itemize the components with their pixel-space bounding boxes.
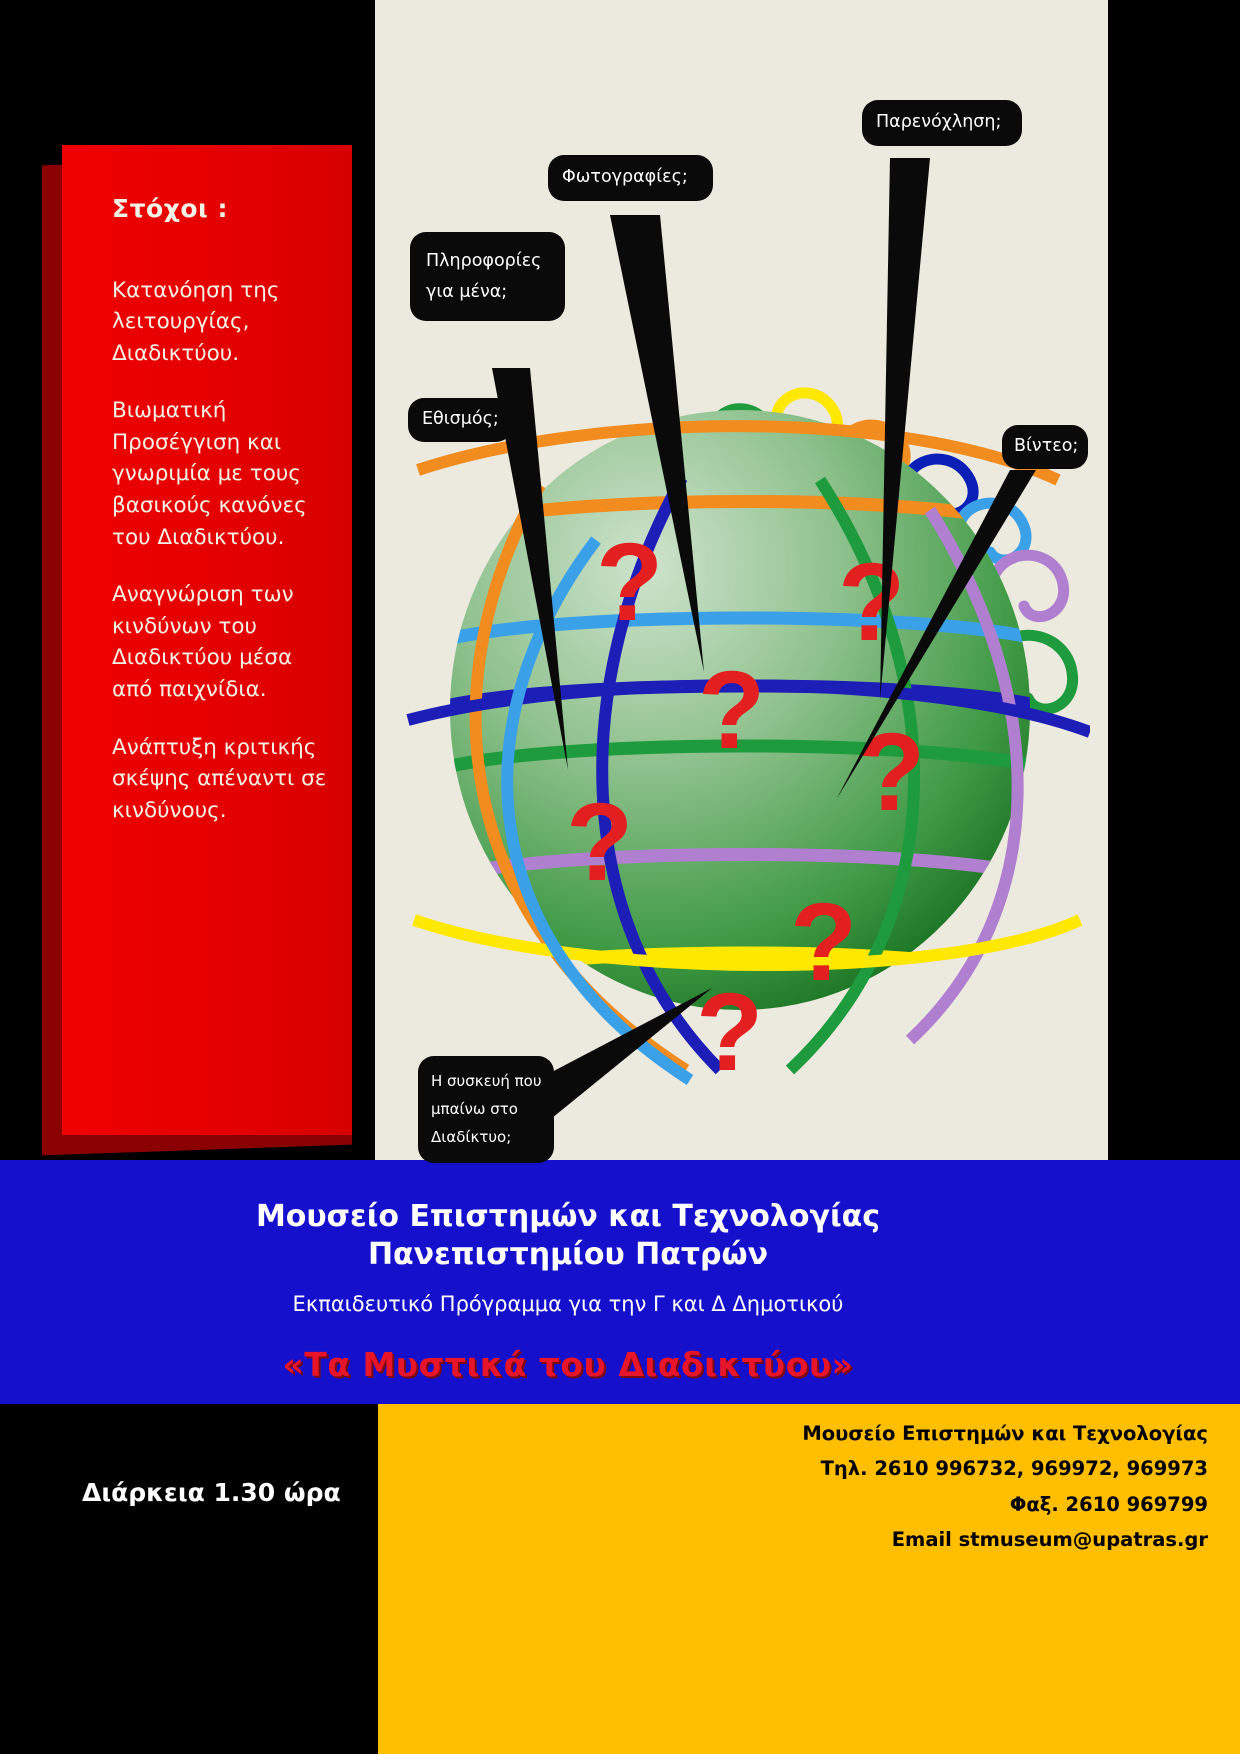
svg-text:?: ? [698,649,765,772]
objectives-panel: Στόχοι : Κατανόηση της λειτουργίας, Διαδ… [62,145,352,1135]
objectives-title: Στόχοι : [112,195,330,223]
svg-text:?: ? [596,521,663,644]
bubble-addiction[interactable]: Εθισμός; [408,398,512,442]
duration-label: Διάρκεια 1.30 ώρα [82,1478,341,1507]
objective-item-1: Κατανόηση της λειτουργίας, Διαδικτύου. [112,275,330,370]
bubble-video[interactable]: Βίντεο; [1002,425,1088,469]
poster-root: Στόχοι : Κατανόηση της λειτουργίας, Διαδ… [0,0,1240,1754]
bubble-addiction-text: Εθισμός; [422,407,502,432]
program-subtitle: Εκπαιδευτικό Πρόγραμμα για την Γ και Δ Δ… [0,1292,1136,1316]
bubble-harassment-text: Παρενόχληση; [876,110,1012,135]
program-name-title: «Τα Μυστικά του Διαδικτύου» [0,1345,1136,1384]
museum-title: Μουσείο Επιστημών και Τεχνολογίας Πανεπι… [0,1198,1136,1275]
svg-text:?: ? [790,881,857,1004]
bubble-harassment[interactable]: Παρενόχληση; [862,100,1022,146]
bubble-information[interactable]: Πληροφορίες για μένα; [410,232,565,321]
objective-item-4: Ανάπτυξη κριτικής σκέψης απέναντι σε κιν… [112,732,330,827]
svg-text:?: ? [696,971,763,1094]
svg-text:?: ? [858,711,925,834]
bubble-video-text: Βίντεο; [1014,434,1080,459]
objectives-panel-content: Στόχοι : Κατανόηση της λειτουργίας, Διαδ… [62,145,352,1135]
bubble-information-text: Πληροφορίες για μένα; [426,246,551,307]
contact-details: Μουσείο Επιστημών και Τεχνολογίας Τηλ. 2… [802,1416,1208,1558]
bubble-device[interactable]: Η συσκευή που μπαίνω στο Διαδίκτυο; [418,1056,554,1163]
bubble-photos[interactable]: Φωτογραφίες; [548,155,713,201]
bubble-photos-text: Φωτογραφίες; [562,165,703,190]
objective-item-3: Αναγνώριση των κινδύνων του Διαδικτύου μ… [112,579,330,705]
right-black-column [1108,0,1240,1160]
svg-text:?: ? [566,781,633,904]
objective-item-2: Βιωματική Προσέγγιση και γνωριμία με του… [112,395,330,553]
svg-text:?: ? [838,541,905,664]
bubble-device-text: Η συσκευή που μπαίνω στο Διαδίκτυο; [431,1068,544,1151]
